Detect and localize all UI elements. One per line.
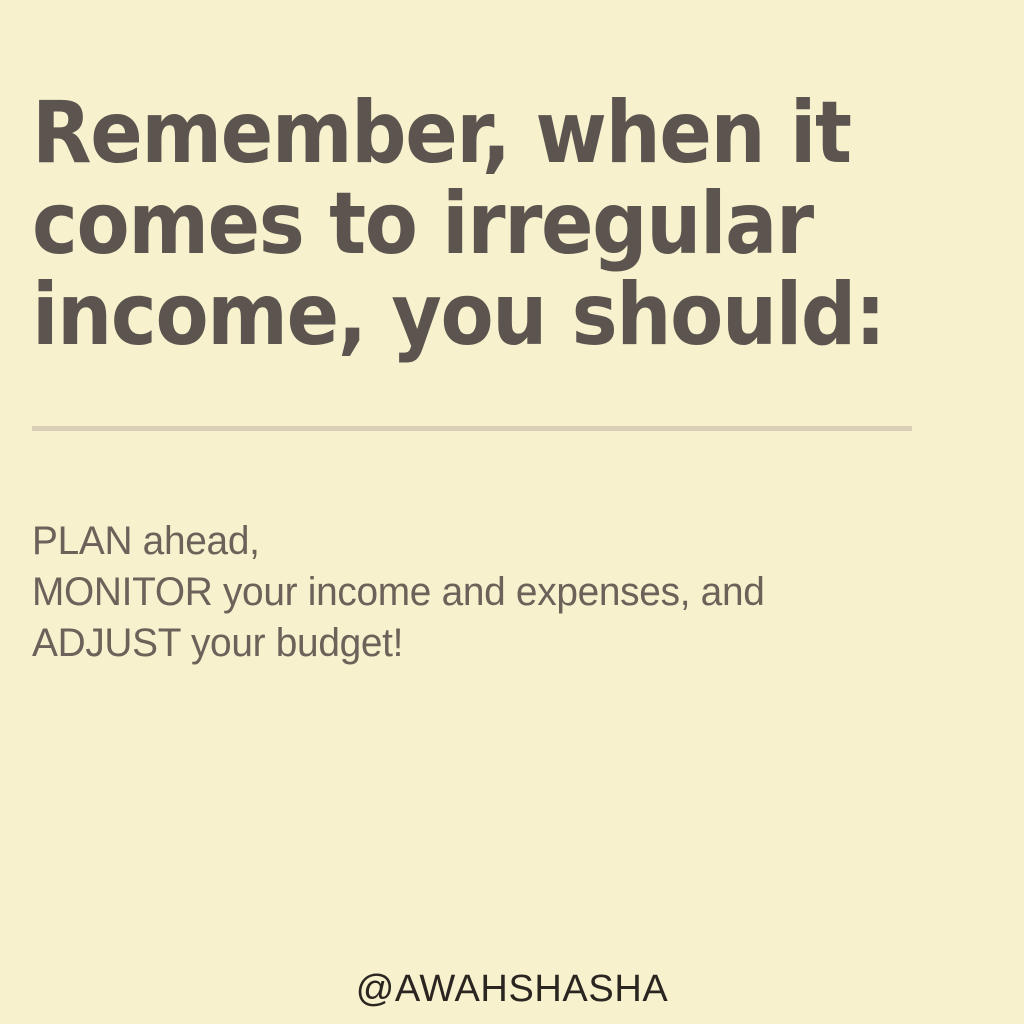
- page-title: Remember, when it comes to irregular inc…: [32, 88, 932, 361]
- body-copy: PLAN ahead, MONITOR your income and expe…: [32, 516, 932, 669]
- social-post-slide: Remember, when it comes to irregular inc…: [0, 0, 1024, 1024]
- body-line-plan: PLAN ahead,: [32, 516, 905, 567]
- body-line-adjust: ADJUST your budget!: [32, 618, 905, 669]
- headline-line-3: income, you should:: [32, 270, 842, 361]
- author-handle: @AWAHSHASHA: [0, 968, 1024, 1011]
- headline-line-1: Remember, when it: [32, 88, 842, 179]
- headline-line-2: comes to irregular: [32, 179, 842, 270]
- divider: [32, 426, 912, 431]
- body-line-monitor: MONITOR your income and expenses, and: [32, 567, 905, 618]
